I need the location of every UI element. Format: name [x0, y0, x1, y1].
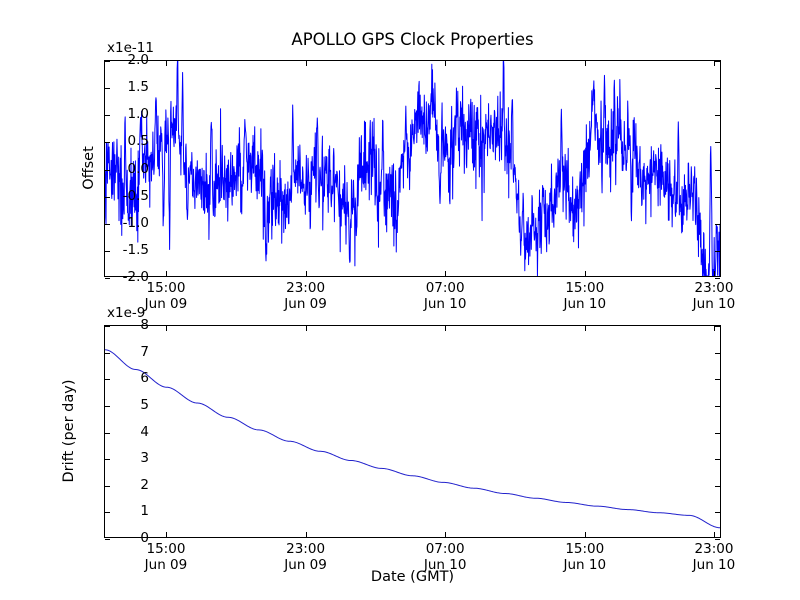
x-tick-label: 07:00 Jun 10 — [385, 281, 505, 312]
y-tick-mark — [105, 61, 110, 62]
x-tick-mark — [714, 326, 715, 331]
y-tick-mark — [715, 197, 720, 198]
x-tick-mark — [585, 271, 586, 276]
y-tick-label: 3 — [140, 452, 149, 466]
y-tick-mark — [715, 278, 720, 279]
y-tick-mark — [105, 433, 110, 434]
y-tick-mark — [105, 251, 110, 252]
x-tick-mark — [166, 326, 167, 331]
y-tick-label: -1.0 — [123, 217, 149, 231]
drift-plot-axes[interactable]: x1e-9 Drift (per day) 01234567815:00 Jun… — [104, 325, 721, 538]
offset-y-axis-label: Offset — [81, 108, 97, 228]
y-tick-mark — [715, 251, 720, 252]
x-tick-mark — [445, 532, 446, 537]
figure-canvas: APOLLO GPS Clock Properties x1e-11 Offse… — [0, 0, 800, 600]
x-tick-label: 23:00 Jun 10 — [654, 281, 774, 312]
x-tick-mark — [585, 61, 586, 66]
y-tick-label: -0.5 — [123, 190, 149, 204]
y-tick-label: 1.5 — [128, 81, 149, 95]
y-tick-label: 7 — [140, 346, 149, 360]
y-tick-mark — [715, 406, 720, 407]
drift-curve-svg — [105, 326, 720, 537]
y-tick-mark — [715, 539, 720, 540]
x-tick-mark — [714, 532, 715, 537]
x-tick-mark — [585, 532, 586, 537]
drift-y-axis-label: Drift (per day) — [61, 351, 77, 511]
x-tick-mark — [445, 271, 446, 276]
y-tick-mark — [715, 379, 720, 380]
y-tick-mark — [105, 486, 110, 487]
x-tick-mark — [714, 271, 715, 276]
y-tick-mark — [105, 406, 110, 407]
y-tick-mark — [105, 326, 110, 327]
y-tick-mark — [715, 115, 720, 116]
figure-title: APOLLO GPS Clock Properties — [104, 30, 721, 50]
y-tick-mark — [715, 170, 720, 171]
x-tick-mark — [306, 532, 307, 537]
y-tick-label: 1.0 — [128, 108, 149, 122]
x-tick-mark — [166, 61, 167, 66]
y-tick-mark — [715, 486, 720, 487]
y-tick-mark — [715, 224, 720, 225]
y-tick-mark — [105, 170, 110, 171]
y-tick-mark — [105, 353, 110, 354]
y-tick-label: 6 — [140, 372, 149, 386]
x-tick-mark — [306, 326, 307, 331]
y-tick-label: -1.5 — [123, 244, 149, 258]
offset-trace-svg — [105, 61, 720, 276]
y-tick-mark — [105, 88, 110, 89]
x-tick-mark — [166, 271, 167, 276]
y-tick-mark — [105, 142, 110, 143]
x-tick-mark — [585, 326, 586, 331]
y-tick-label: 0.0 — [128, 163, 149, 177]
y-tick-mark — [105, 512, 110, 513]
y-tick-mark — [715, 459, 720, 460]
y-tick-mark — [105, 379, 110, 380]
y-tick-mark — [715, 433, 720, 434]
x-tick-label: 23:00 Jun 09 — [246, 281, 366, 312]
y-tick-mark — [715, 512, 720, 513]
y-tick-label: 5 — [140, 399, 149, 413]
x-tick-mark — [714, 61, 715, 66]
x-tick-mark — [166, 532, 167, 537]
x-tick-mark — [306, 61, 307, 66]
y-tick-mark — [105, 459, 110, 460]
y-tick-label: 4 — [140, 426, 149, 440]
y-tick-mark — [105, 224, 110, 225]
y-tick-label: 2 — [140, 479, 149, 493]
x-tick-label: 15:00 Jun 10 — [525, 281, 645, 312]
y-tick-mark — [715, 326, 720, 327]
x-axis-label: Date (GMT) — [104, 569, 721, 585]
x-tick-mark — [445, 61, 446, 66]
y-tick-label: 2.0 — [128, 54, 149, 68]
y-tick-mark — [715, 353, 720, 354]
y-tick-mark — [715, 61, 720, 62]
y-tick-mark — [105, 278, 110, 279]
x-tick-mark — [445, 326, 446, 331]
x-tick-mark — [306, 271, 307, 276]
y-tick-label: 8 — [140, 319, 149, 333]
y-tick-label: 0.5 — [128, 135, 149, 149]
offset-plot-axes[interactable]: x1e-11 Offset -2.0-1.5-1.0-0.50.00.51.01… — [104, 60, 721, 277]
y-tick-mark — [105, 539, 110, 540]
y-tick-mark — [715, 88, 720, 89]
y-tick-mark — [715, 142, 720, 143]
y-tick-label: 1 — [140, 505, 149, 519]
y-tick-mark — [105, 197, 110, 198]
y-tick-mark — [105, 115, 110, 116]
